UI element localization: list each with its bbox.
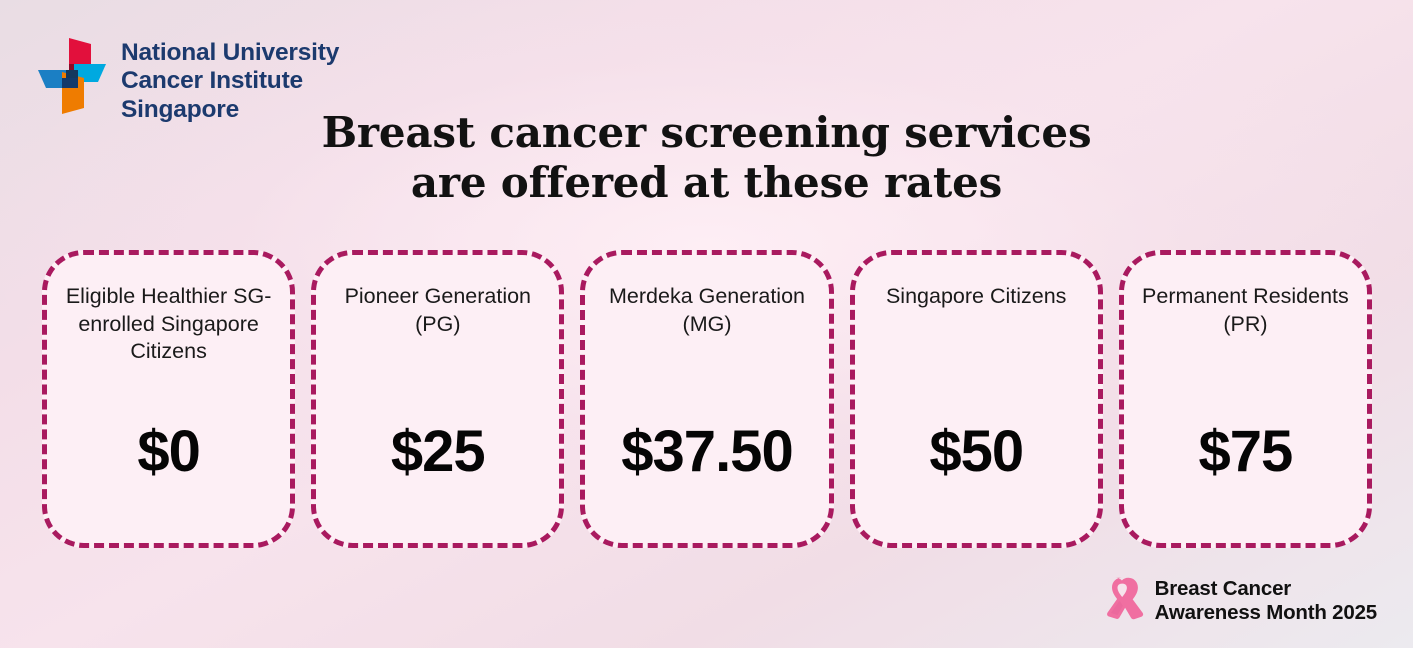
pricing-card-price: $25 bbox=[316, 423, 559, 481]
logo-line-2: Cancer Institute bbox=[121, 67, 339, 95]
pricing-card-price: $37.50 bbox=[585, 423, 828, 481]
pricing-card: Eligible Healthier SG-enrolled Singapore… bbox=[42, 250, 295, 548]
logo-line-1: National University bbox=[121, 39, 339, 67]
badge-line-2: Awareness Month 2025 bbox=[1155, 601, 1377, 625]
title-line-1: Breast cancer screening services bbox=[0, 108, 1413, 158]
awareness-badge-text: Breast Cancer Awareness Month 2025 bbox=[1155, 577, 1377, 625]
pricing-card: Merdeka Generation (MG) $37.50 bbox=[580, 250, 833, 548]
pricing-card-price: $0 bbox=[47, 423, 290, 481]
pricing-card-label: Eligible Healthier SG-enrolled Singapore… bbox=[57, 283, 280, 366]
pink-ribbon-icon bbox=[1101, 576, 1145, 626]
pricing-card: Pioneer Generation (PG) $25 bbox=[311, 250, 564, 548]
pricing-card-label: Pioneer Generation (PG) bbox=[326, 283, 549, 338]
pricing-card-label: Merdeka Generation (MG) bbox=[595, 283, 818, 338]
awareness-month-badge: Breast Cancer Awareness Month 2025 bbox=[1101, 576, 1377, 626]
pricing-card-price: $50 bbox=[855, 423, 1098, 481]
badge-line-1: Breast Cancer bbox=[1155, 577, 1377, 601]
pricing-card-label: Permanent Residents (PR) bbox=[1134, 283, 1357, 338]
pricing-card-price: $75 bbox=[1124, 423, 1367, 481]
pricing-card-label: Singapore Citizens bbox=[886, 283, 1066, 311]
page-title: Breast cancer screening services are off… bbox=[0, 108, 1413, 209]
nuci-pinwheel-logo-icon bbox=[36, 36, 108, 116]
title-line-2: are offered at these rates bbox=[0, 158, 1413, 208]
pricing-card: Permanent Residents (PR) $75 bbox=[1119, 250, 1372, 548]
poster-canvas: National University Cancer Institute Sin… bbox=[0, 0, 1413, 648]
pricing-card: Singapore Citizens $50 bbox=[850, 250, 1103, 548]
pricing-card-row: Eligible Healthier SG-enrolled Singapore… bbox=[42, 250, 1372, 548]
